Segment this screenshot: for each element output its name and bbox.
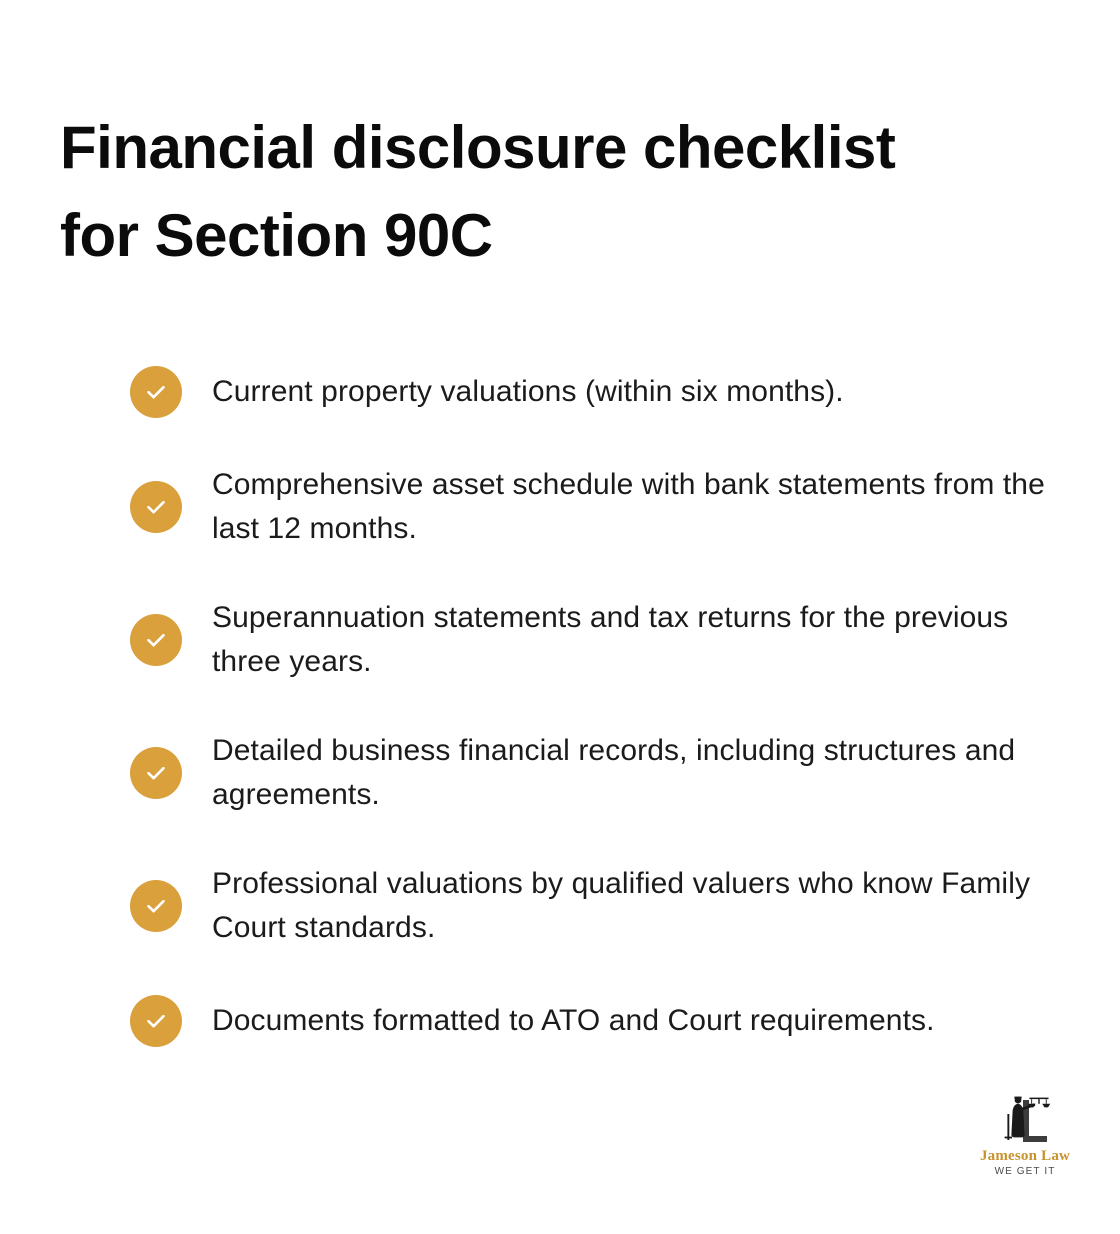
lady-justice-scales-icon <box>975 1090 1075 1148</box>
page-title-line-1: Financial disclosure checklist <box>60 104 1060 192</box>
check-circle-icon <box>130 995 182 1047</box>
check-circle-icon <box>130 366 182 418</box>
page-title: Financial disclosure checklist for Secti… <box>60 104 1060 280</box>
brand-logo: Jameson Law WE GET IT <box>975 1090 1075 1178</box>
list-item-label: Comprehensive asset schedule with bank s… <box>212 463 1060 551</box>
list-item-label: Current property valuations (within six … <box>212 370 1060 414</box>
checklist-page: Financial disclosure checklist for Secti… <box>0 0 1120 1234</box>
list-item-label: Professional valuations by qualified val… <box>212 862 1060 950</box>
list-item-label: Documents formatted to ATO and Court req… <box>212 999 1060 1043</box>
brand-name: Jameson Law <box>975 1148 1075 1165</box>
check-circle-icon <box>130 481 182 533</box>
check-circle-icon <box>130 614 182 666</box>
list-item: Professional valuations by qualified val… <box>130 862 1060 950</box>
list-item-label: Superannuation statements and tax return… <box>212 596 1060 684</box>
list-item-label: Detailed business financial records, inc… <box>212 729 1060 817</box>
list-item: Comprehensive asset schedule with bank s… <box>130 463 1060 551</box>
list-item: Superannuation statements and tax return… <box>130 596 1060 684</box>
list-item: Documents formatted to ATO and Court req… <box>130 995 1060 1047</box>
list-item: Detailed business financial records, inc… <box>130 729 1060 817</box>
list-item: Current property valuations (within six … <box>130 366 1060 418</box>
checklist: Current property valuations (within six … <box>130 366 1060 1047</box>
check-circle-icon <box>130 880 182 932</box>
check-circle-icon <box>130 747 182 799</box>
brand-tagline: WE GET IT <box>975 1165 1075 1178</box>
page-title-line-2: for Section 90C <box>60 192 1060 280</box>
